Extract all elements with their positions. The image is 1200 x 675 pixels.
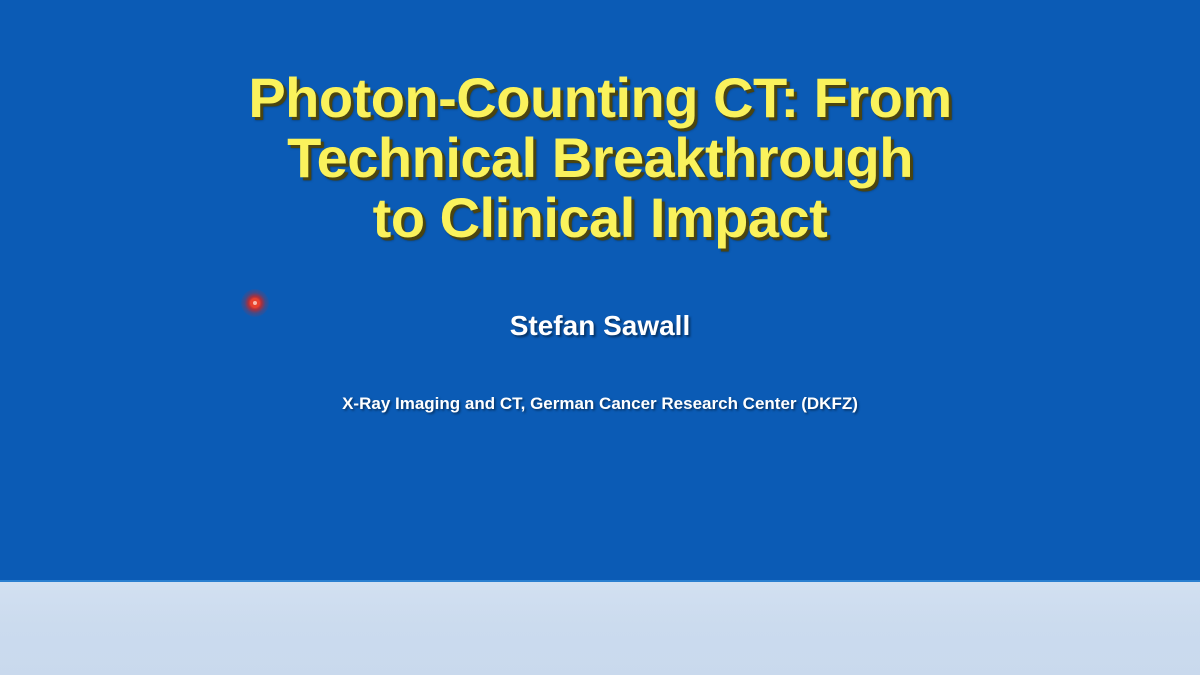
slide-footer: dkfz. DEUTSCHES KREBSFORSCHUNGSZENTRUM I…: [0, 580, 1200, 675]
title-line-1: Photon-Counting CT: From: [0, 68, 1200, 128]
presentation-slide: Photon-Counting CT: From Technical Break…: [0, 0, 1200, 675]
presenter-affiliation: X-Ray Imaging and CT, German Cancer Rese…: [0, 394, 1200, 414]
laser-pointer-icon: [241, 289, 269, 317]
title-line-3: to Clinical Impact: [0, 188, 1200, 248]
title-line-2: Technical Breakthrough: [0, 128, 1200, 188]
slide-title: Photon-Counting CT: From Technical Break…: [0, 68, 1200, 248]
presenter-name: Stefan Sawall: [0, 310, 1200, 342]
